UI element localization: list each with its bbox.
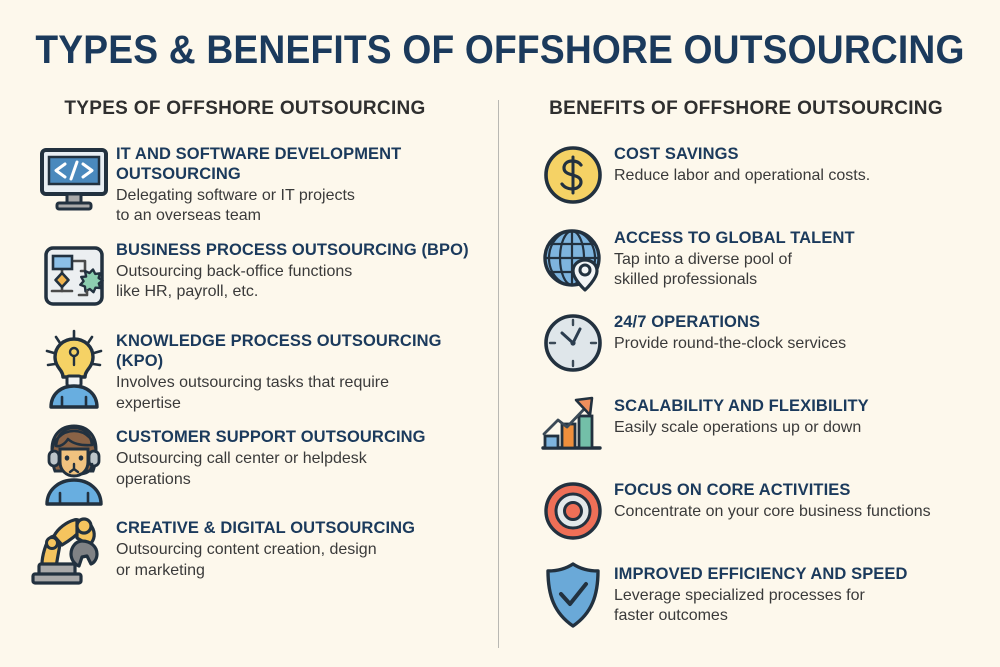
- list-item-title: KNOWLEDGE PROCESS OUTSOURCING (KPO): [116, 331, 486, 371]
- list-item-text: CUSTOMER SUPPORT OUTSOURCING Outsourcing…: [116, 421, 486, 490]
- list-item: IMPROVED EFFICIENCY AND SPEED Leverage s…: [532, 558, 990, 632]
- monitor-code-icon: [32, 138, 116, 222]
- list-item-desc: Outsourcing call center or helpdesk oper…: [116, 449, 486, 490]
- list-item-text: BUSINESS PROCESS OUTSOURCING (BPO) Outso…: [116, 234, 486, 303]
- list-item-text: 24/7 OPERATIONS Provide round-the-clock …: [614, 306, 990, 355]
- list-item: ACCESS TO GLOBAL TALENT Tap into a diver…: [532, 222, 990, 296]
- dollar-coin-icon: [532, 138, 614, 212]
- list-item-desc: Concentrate on your core business functi…: [614, 502, 990, 522]
- list-item-desc: Provide round-the-clock services: [614, 334, 990, 354]
- list-item-desc: Outsourcing content creation, design or …: [116, 540, 486, 581]
- list-item-title: IT AND SOFTWARE DEVELOPMENT OUTSOURCING: [116, 144, 486, 184]
- list-item-text: FOCUS ON CORE ACTIVITIES Concentrate on …: [614, 474, 990, 523]
- robot-arm-icon: [32, 512, 116, 596]
- right-column-header: BENEFITS OF OFFSHORE OUTSOURCING: [532, 96, 990, 122]
- list-item-title: IMPROVED EFFICIENCY AND SPEED: [614, 564, 990, 584]
- list-item-text: KNOWLEDGE PROCESS OUTSOURCING (KPO) Invo…: [116, 325, 486, 414]
- list-item-desc: Leverage specialized processes for faste…: [614, 586, 990, 627]
- infographic-page: TYPES & BENEFITS OF OFFSHORE OUTSOURCING…: [0, 0, 1000, 667]
- list-item-desc: Easily scale operations up or down: [614, 418, 990, 438]
- list-item: 24/7 OPERATIONS Provide round-the-clock …: [532, 306, 990, 380]
- left-column: TYPES OF OFFSHORE OUTSOURCING IT AN: [0, 96, 498, 656]
- list-item: COST SAVINGS Reduce labor and operationa…: [532, 138, 990, 212]
- list-item: IT AND SOFTWARE DEVELOPMENT OUTSOURCING …: [32, 138, 486, 227]
- title-bar: TYPES & BENEFITS OF OFFSHORE OUTSOURCING: [0, 28, 1000, 72]
- list-item-title: CREATIVE & DIGITAL OUTSOURCING: [116, 518, 486, 538]
- globe-pin-icon: [532, 222, 614, 296]
- list-item: CUSTOMER SUPPORT OUTSOURCING Outsourcing…: [32, 421, 486, 505]
- list-item-title: CUSTOMER SUPPORT OUTSOURCING: [116, 427, 486, 447]
- list-item-text: SCALABILITY AND FLEXIBILITY Easily scale…: [614, 390, 990, 439]
- list-item-title: ACCESS TO GLOBAL TALENT: [614, 228, 990, 248]
- list-item-desc: Involves outsourcing tasks that require …: [116, 373, 486, 414]
- list-item: FOCUS ON CORE ACTIVITIES Concentrate on …: [532, 474, 990, 548]
- list-item-title: COST SAVINGS: [614, 144, 990, 164]
- columns-container: TYPES OF OFFSHORE OUTSOURCING IT AN: [0, 96, 1000, 656]
- page-title: TYPES & BENEFITS OF OFFSHORE OUTSOURCING: [35, 28, 965, 72]
- lightbulb-person-icon: [32, 325, 116, 409]
- clock-icon: [532, 306, 614, 380]
- right-column: BENEFITS OF OFFSHORE OUTSOURCING COST SA…: [498, 96, 1000, 656]
- list-item-text: ACCESS TO GLOBAL TALENT Tap into a diver…: [614, 222, 990, 291]
- growth-chart-icon: [532, 390, 614, 464]
- headset-agent-icon: [32, 421, 116, 505]
- list-item-desc: Delegating software or IT projects to an…: [116, 186, 486, 227]
- list-item: CREATIVE & DIGITAL OUTSOURCING Outsourci…: [32, 512, 486, 596]
- process-flowchart-icon: [32, 234, 116, 318]
- list-item-text: IMPROVED EFFICIENCY AND SPEED Leverage s…: [614, 558, 990, 627]
- list-item-desc: Outsourcing back-office functions like H…: [116, 262, 486, 303]
- list-item-desc: Reduce labor and operational costs.: [614, 166, 990, 186]
- list-item-title: SCALABILITY AND FLEXIBILITY: [614, 396, 990, 416]
- target-bullseye-icon: [532, 474, 614, 548]
- list-item-text: COST SAVINGS Reduce labor and operationa…: [614, 138, 990, 187]
- list-item-title: BUSINESS PROCESS OUTSOURCING (BPO): [116, 240, 486, 260]
- list-item: KNOWLEDGE PROCESS OUTSOURCING (KPO) Invo…: [32, 325, 486, 414]
- list-item: SCALABILITY AND FLEXIBILITY Easily scale…: [532, 390, 990, 464]
- list-item-title: FOCUS ON CORE ACTIVITIES: [614, 480, 990, 500]
- list-item-text: CREATIVE & DIGITAL OUTSOURCING Outsourci…: [116, 512, 486, 581]
- list-item: BUSINESS PROCESS OUTSOURCING (BPO) Outso…: [32, 234, 486, 318]
- shield-check-icon: [532, 558, 614, 632]
- list-item-desc: Tap into a diverse pool of skilled profe…: [614, 250, 990, 291]
- list-item-title: 24/7 OPERATIONS: [614, 312, 990, 332]
- list-item-text: IT AND SOFTWARE DEVELOPMENT OUTSOURCING …: [116, 138, 486, 227]
- left-column-header: TYPES OF OFFSHORE OUTSOURCING: [32, 96, 486, 122]
